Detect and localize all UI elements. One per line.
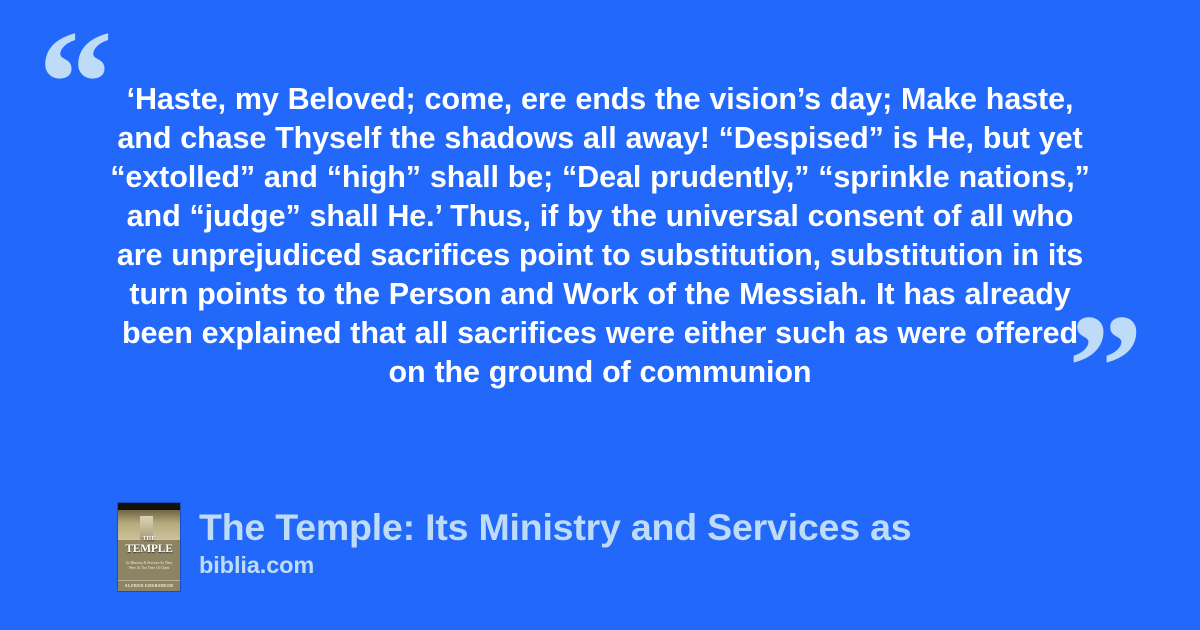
quote-card: “ ‘Haste, my Beloved; come, ere ends the… [0, 0, 1200, 630]
book-cover-top-band [118, 503, 180, 510]
opening-quote-icon: “ [38, 8, 113, 158]
quote-block: ‘Haste, my Beloved; come, ere ends the v… [108, 80, 1092, 392]
footer-text: The Temple: Its Ministry and Services as… [199, 503, 911, 579]
site-name: biblia.com [199, 551, 911, 579]
quote-text: ‘Haste, my Beloved; come, ere ends the v… [108, 80, 1092, 392]
footer: THE TEMPLE Its Ministry & Services As Th… [118, 503, 911, 591]
closing-quote-icon: ” [1068, 292, 1143, 442]
book-cover-title-big: TEMPLE [118, 543, 180, 555]
book-cover-subtitle: Its Ministry & Services As They Were At … [124, 561, 174, 572]
book-title: The Temple: Its Ministry and Services as [199, 505, 911, 549]
book-cover-author: ALFRED EDERSHEIM [118, 580, 180, 588]
book-cover-thumbnail: THE TEMPLE Its Ministry & Services As Th… [118, 503, 180, 591]
book-cover-title: THE TEMPLE [118, 536, 180, 555]
book-cover-title-small: THE [142, 536, 155, 542]
